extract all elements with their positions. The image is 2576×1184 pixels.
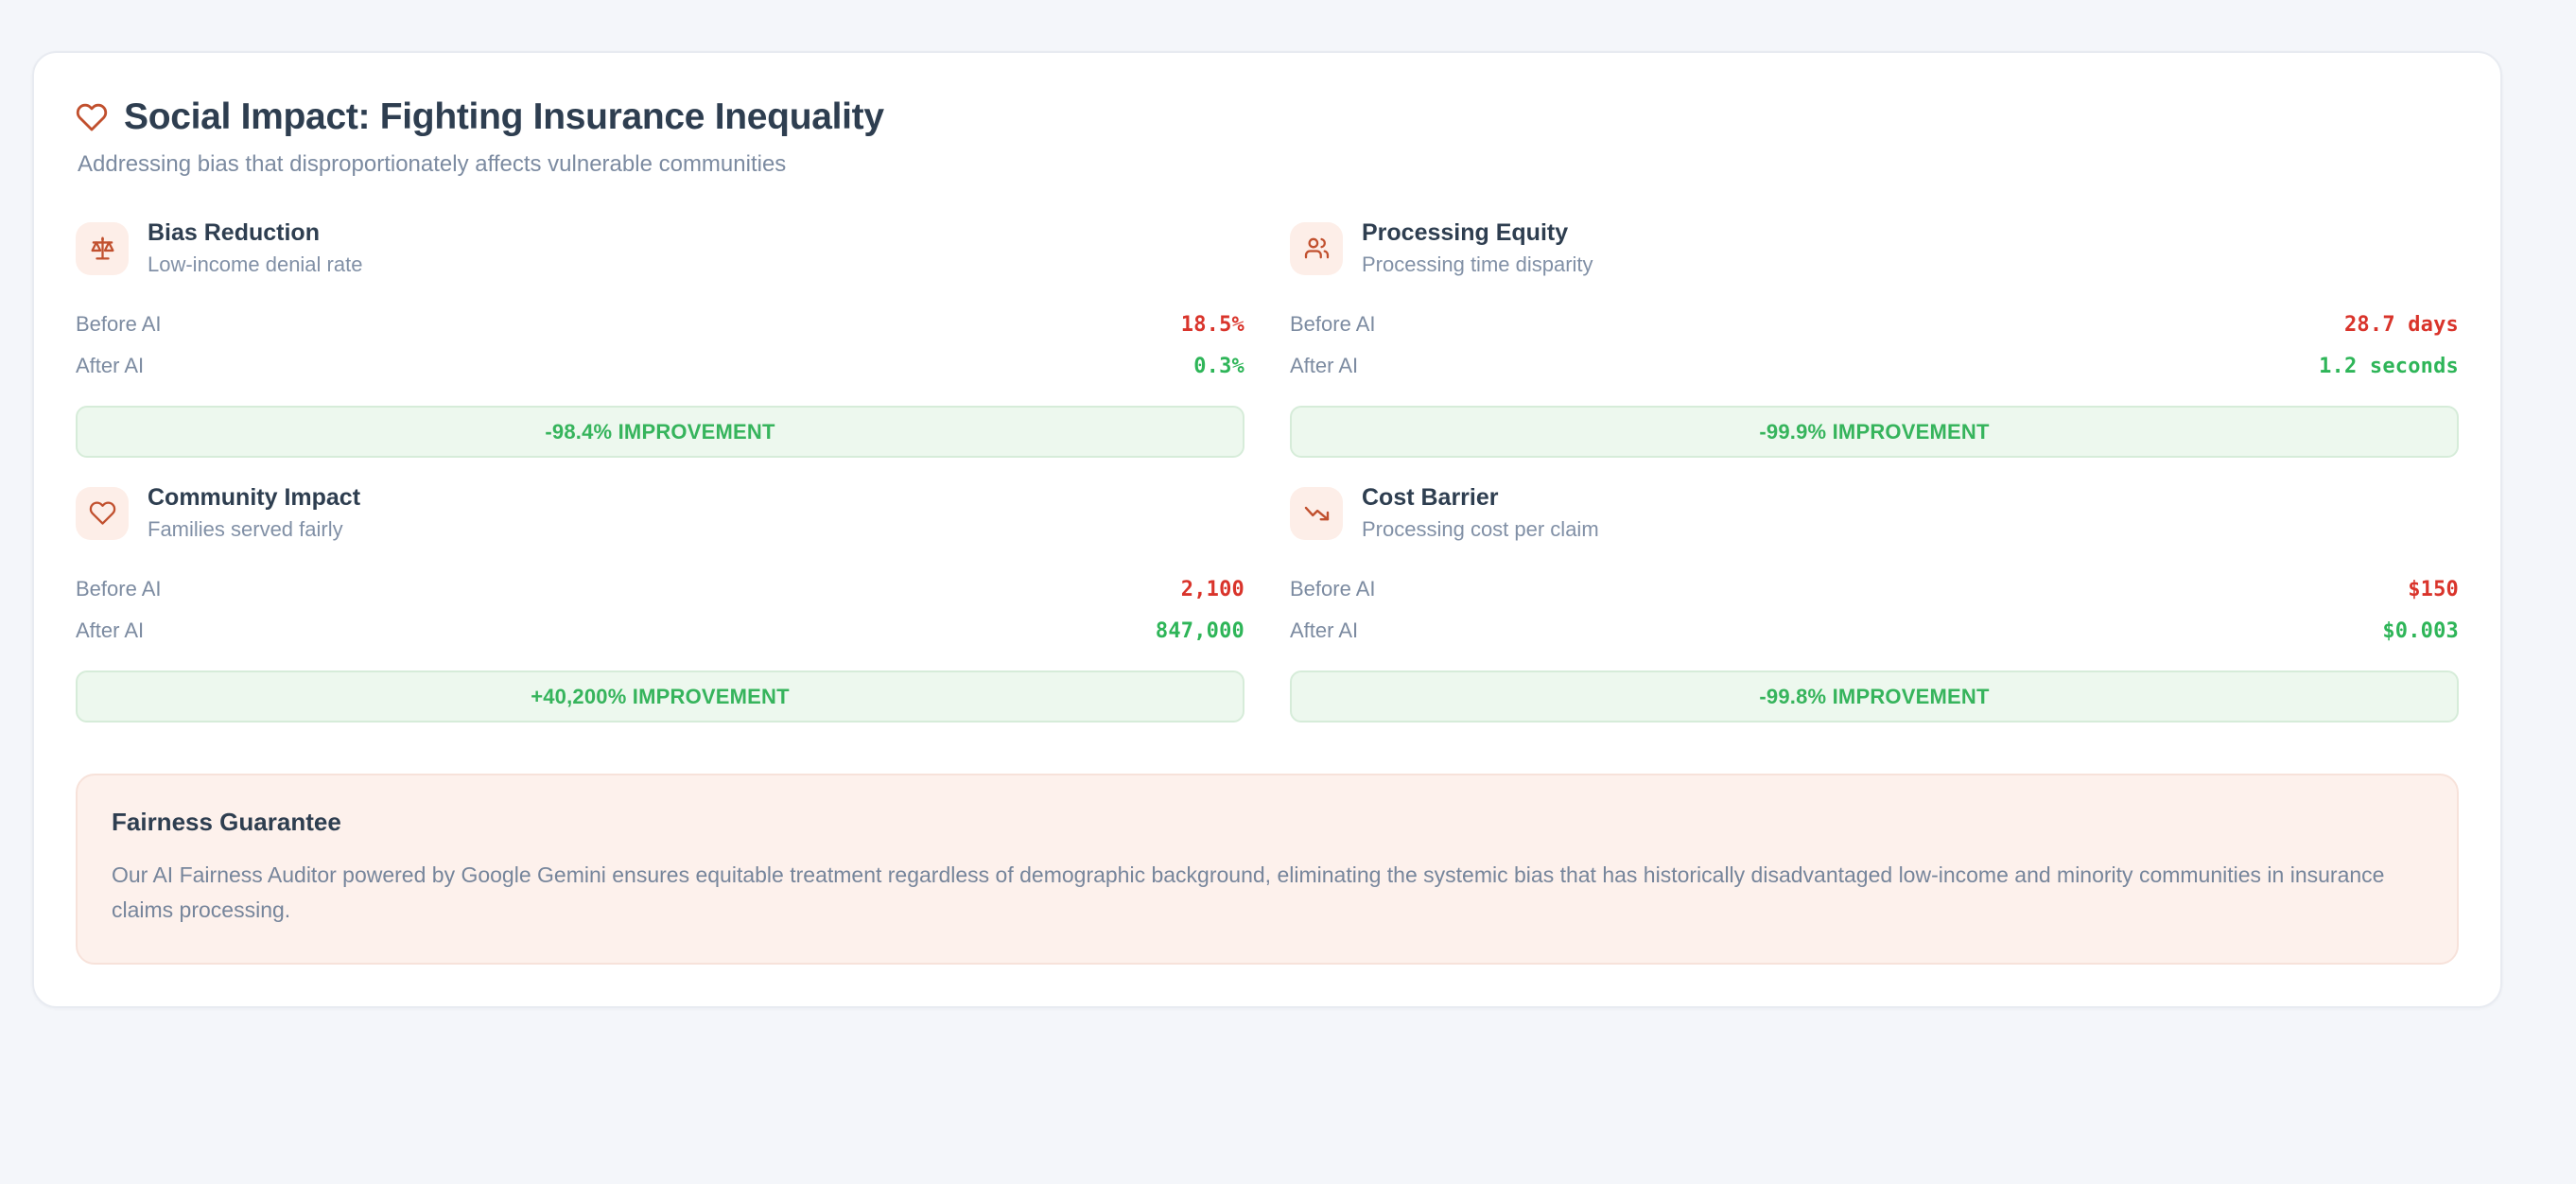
metric-header: Cost Barrier Processing cost per claim (1290, 484, 2459, 542)
metric-label: Community Impact (148, 484, 360, 512)
metric-heading: Bias Reduction Low-income denial rate (148, 219, 362, 277)
row-label-after: After AI (1290, 618, 1358, 643)
row-value-before: 28.7 days (2344, 313, 2459, 337)
improvement-badge: -98.4% IMPROVEMENT (76, 406, 1244, 458)
row-value-after: 1.2 seconds (2319, 355, 2459, 378)
row-value-before: 18.5% (1181, 313, 1244, 337)
row-value-after: 847,000 (1156, 619, 1244, 643)
page-root: Social Impact: Fighting Insurance Inequa… (0, 0, 2576, 1184)
row-label-after: After AI (1290, 354, 1358, 378)
metric-row-before: Before AI 18.5% (76, 304, 1244, 345)
fairness-guarantee-callout: Fairness Guarantee Our AI Fairness Audit… (76, 774, 2459, 965)
metric-sublabel: Low-income denial rate (148, 252, 362, 277)
improvement-badge: +40,200% IMPROVEMENT (76, 670, 1244, 723)
row-label-after: After AI (76, 354, 144, 378)
metric-rows: Before AI 2,100 After AI 847,000 (76, 568, 1244, 652)
page-title: Social Impact: Fighting Insurance Inequa… (124, 96, 884, 138)
fairness-guarantee-text: Our AI Fairness Auditor powered by Googl… (112, 858, 2410, 929)
metric-heading: Cost Barrier Processing cost per claim (1362, 484, 1599, 542)
row-value-before: 2,100 (1181, 578, 1244, 601)
metric-row-before: Before AI $150 (1290, 568, 2459, 610)
trending-down-icon (1290, 487, 1343, 540)
metric-header: Bias Reduction Low-income denial rate (76, 219, 1244, 277)
metric-label: Processing Equity (1362, 219, 1593, 247)
metric-rows: Before AI 18.5% After AI 0.3% (76, 304, 1244, 387)
social-impact-panel: Social Impact: Fighting Insurance Inequa… (32, 51, 2502, 1008)
row-value-after: $0.003 (2382, 619, 2459, 643)
metric-heading: Processing Equity Processing time dispar… (1362, 219, 1593, 277)
metric-sublabel: Processing time disparity (1362, 252, 1593, 277)
row-label-before: Before AI (1290, 312, 1376, 337)
title-row: Social Impact: Fighting Insurance Inequa… (76, 96, 2459, 138)
metric-row-before: Before AI 28.7 days (1290, 304, 2459, 345)
metric-row-after: After AI 0.3% (76, 345, 1244, 387)
page-subtitle: Addressing bias that disproportionately … (78, 151, 2459, 178)
metric-row-after: After AI $0.003 (1290, 610, 2459, 652)
metric-card-bias-reduction: Bias Reduction Low-income denial rate Be… (76, 219, 1244, 484)
scales-icon (76, 222, 129, 275)
improvement-badge: -99.9% IMPROVEMENT (1290, 406, 2459, 458)
metric-rows: Before AI 28.7 days After AI 1.2 seconds (1290, 304, 2459, 387)
metric-row-before: Before AI 2,100 (76, 568, 1244, 610)
heart-icon (76, 101, 108, 133)
metrics-grid: Bias Reduction Low-income denial rate Be… (76, 219, 2459, 749)
metric-rows: Before AI $150 After AI $0.003 (1290, 568, 2459, 652)
metric-card-cost-barrier: Cost Barrier Processing cost per claim B… (1290, 484, 2459, 749)
metric-label: Cost Barrier (1362, 484, 1599, 512)
row-value-after: 0.3% (1193, 355, 1244, 378)
row-label-before: Before AI (1290, 577, 1376, 601)
row-label-before: Before AI (76, 312, 162, 337)
metric-sublabel: Processing cost per claim (1362, 517, 1599, 542)
metric-heading: Community Impact Families served fairly (148, 484, 360, 542)
metric-header: Community Impact Families served fairly (76, 484, 1244, 542)
panel-header: Social Impact: Fighting Insurance Inequa… (76, 96, 2459, 178)
fairness-guarantee-title: Fairness Guarantee (112, 808, 2423, 837)
metric-header: Processing Equity Processing time dispar… (1290, 219, 2459, 277)
metric-row-after: After AI 847,000 (76, 610, 1244, 652)
metric-card-processing-equity: Processing Equity Processing time dispar… (1290, 219, 2459, 484)
row-label-before: Before AI (76, 577, 162, 601)
improvement-badge: -99.8% IMPROVEMENT (1290, 670, 2459, 723)
metric-sublabel: Families served fairly (148, 517, 360, 542)
row-value-before: $150 (2408, 578, 2459, 601)
metric-label: Bias Reduction (148, 219, 362, 247)
row-label-after: After AI (76, 618, 144, 643)
heart-icon (76, 487, 129, 540)
metric-row-after: After AI 1.2 seconds (1290, 345, 2459, 387)
users-icon (1290, 222, 1343, 275)
metric-card-community-impact: Community Impact Families served fairly … (76, 484, 1244, 749)
